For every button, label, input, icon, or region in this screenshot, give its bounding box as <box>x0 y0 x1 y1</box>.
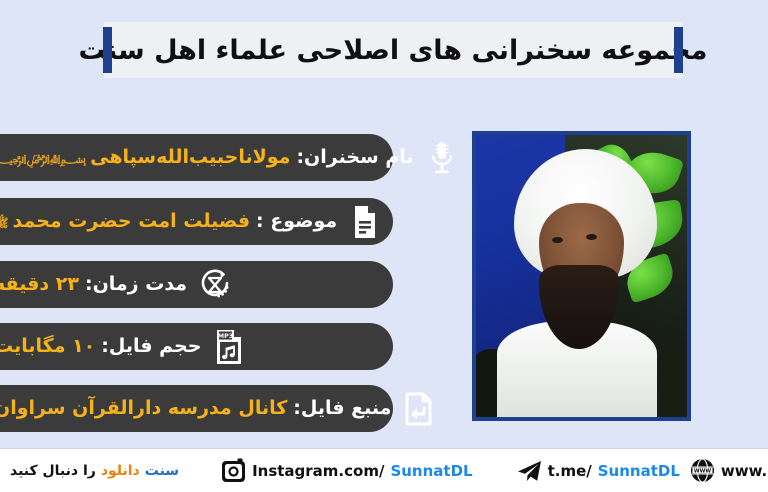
footer-follow-brand: سنت <box>145 463 179 479</box>
file-download-icon <box>397 387 441 431</box>
info-row-duration-value: ۲۳ دقیقه <box>0 275 79 294</box>
svg-text:WWW: WWW <box>694 468 711 474</box>
info-row-subject-honorific: ﷺ <box>0 217 9 229</box>
speaker-photo <box>476 135 687 417</box>
title-bar-right <box>674 27 683 73</box>
instagram-icon <box>221 458 246 483</box>
info-row-speaker: نام سخنران: مولاناحبیب‌الله‌سپاهی ﷽ <box>0 134 393 181</box>
footer-website-prefix: www. <box>721 462 767 480</box>
info-row-filesize-text: حجم فایل: ۱۰ مگابایت <box>0 337 201 356</box>
globe-www-icon: WWW <box>690 458 715 483</box>
svg-text:MP3: MP3 <box>218 332 234 340</box>
info-row-subject-value: فضیلت امت حضرت محمد <box>13 212 251 231</box>
photo-eye-right <box>586 234 597 240</box>
footer-telegram-prefix: t.me/ <box>548 462 592 480</box>
microphone-icon <box>420 136 464 180</box>
info-row-speaker-text: نام سخنران: مولاناحبیب‌الله‌سپاهی ﷽ <box>0 148 414 167</box>
mp3-file-icon: MP3 <box>207 325 251 369</box>
footer-follow-text: سنت دانلود را دنبال کنید <box>10 463 179 479</box>
info-row-subject-label: موضوع : <box>256 212 337 231</box>
title-bar-left <box>103 27 112 73</box>
footer-instagram-brand: SunnatDL <box>390 462 472 480</box>
info-row-subject: موضوع : فضیلت امت حضرت محمد ﷺ <box>0 198 393 245</box>
hourglass-timer-icon <box>193 263 237 307</box>
info-row-duration-label: مدت زمان: <box>85 275 187 294</box>
info-row-filesize-label: حجم فایل: <box>101 337 201 356</box>
footer-instagram-link[interactable]: Instagram.com/ SunnatDL <box>221 458 473 483</box>
footer-follow-rest: را دنبال کنید <box>10 463 96 479</box>
footer-instagram-prefix: Instagram.com/ <box>252 462 384 480</box>
info-row-filesize-value: ۱۰ مگابایت <box>0 337 95 356</box>
title-band: مجموعه سخنرانی های اصلاحی علماء اهل سنت <box>104 22 682 78</box>
footer-website-link[interactable]: WWW www. SunnatDL .com <box>690 458 768 483</box>
info-row-source-text: منبع فایل: کانال مدرسه دارالقرآن سراوان <box>0 399 391 418</box>
info-row-duration-text: مدت زمان: ۲۳ دقیقه <box>0 275 187 294</box>
document-icon <box>343 200 387 244</box>
info-row-source-value: کانال مدرسه دارالقرآن سراوان <box>0 399 287 418</box>
page-title: مجموعه سخنرانی های اصلاحی علماء اهل سنت <box>65 37 722 64</box>
info-row-filesize: MP3 حجم فایل: ۱۰ مگابایت <box>0 323 393 370</box>
speaker-photo-frame <box>472 131 691 421</box>
telegram-icon <box>517 460 542 482</box>
poster-canvas: مجموعه سخنرانی های اصلاحی علماء اهل سنت … <box>0 0 768 492</box>
footer-telegram-link[interactable]: t.me/ SunnatDL <box>517 460 680 482</box>
footer-bar: سنت دانلود را دنبال کنید Instagram.com/ … <box>0 448 768 492</box>
footer-follow-download: دانلود <box>101 463 140 479</box>
info-row-duration: مدت زمان: ۲۳ دقیقه <box>0 261 393 308</box>
info-row-source: منبع فایل: کانال مدرسه دارالقرآن سراوان <box>0 385 393 432</box>
photo-eye-left <box>552 237 563 243</box>
info-row-subject-text: موضوع : فضیلت امت حضرت محمد ﷺ <box>0 212 337 231</box>
info-row-speaker-label: نام سخنران: <box>296 148 413 167</box>
info-row-speaker-honorific: ﷽ <box>0 153 86 165</box>
info-row-source-label: منبع فایل: <box>293 399 391 418</box>
info-row-speaker-value: مولاناحبیب‌الله‌سپاهی <box>90 148 290 167</box>
footer-telegram-brand: SunnatDL <box>598 462 680 480</box>
